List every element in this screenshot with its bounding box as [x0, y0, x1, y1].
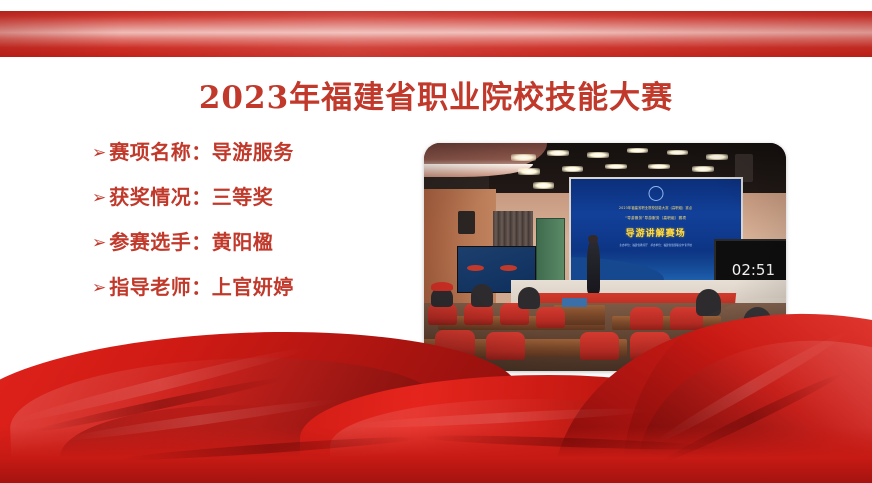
ceiling-light	[511, 154, 536, 161]
audience-red-cap	[431, 282, 453, 291]
wall-speaker-icon	[458, 211, 474, 234]
ceiling-light	[547, 150, 569, 156]
arrow-bullet-icon: ➢	[92, 190, 106, 207]
list-item-label: 赛项名称：导游服务	[109, 136, 294, 165]
audience-person	[471, 284, 493, 307]
auditorium-seat	[536, 307, 565, 328]
arrow-bullet-icon: ➢	[92, 145, 106, 162]
info-list: ➢ 赛项名称：导游服务 ➢ 获奖情况：三等奖 ➢ 参赛选手：黄阳楹 ➢ 指导老师…	[92, 136, 422, 316]
ceiling-light	[692, 166, 714, 172]
list-item-label: 指导老师：上官妍婷	[109, 271, 294, 300]
banner-sheen	[0, 11, 872, 57]
ceiling-light	[648, 164, 670, 170]
arrow-bullet-icon: ➢	[92, 280, 106, 297]
emblem-icon	[648, 186, 663, 201]
ceiling-light	[706, 154, 728, 159]
ceiling-light	[518, 168, 540, 175]
led-headline: 导游讲解赛场	[626, 226, 686, 239]
ceiling-light	[605, 164, 627, 170]
ceiling-light	[533, 182, 555, 189]
auditorium-seat	[486, 332, 526, 359]
ceiling-light	[667, 150, 689, 155]
audience-person	[518, 287, 540, 310]
slide-canvas: 2023年福建省职业院校技能大赛 ➢ 赛项名称：导游服务 ➢ 获奖情况：三等奖 …	[0, 0, 872, 483]
top-red-banner	[0, 11, 872, 57]
list-item-label: 获奖情况：三等奖	[109, 181, 273, 210]
list-item: ➢ 赛项名称：导游服务	[92, 136, 422, 181]
ceiling-light	[562, 166, 584, 172]
laptop-icon	[562, 298, 587, 307]
led-line-2: “导游服务”导游服务（高职组）赛项	[625, 216, 686, 221]
list-item: ➢ 指导老师：上官妍婷	[92, 271, 422, 316]
led-line-1: 2023年福建省职业院校技能大赛（高职组）赛点	[619, 205, 692, 210]
auditorium-seat	[580, 332, 620, 359]
ceiling-light	[627, 148, 649, 153]
ceiling-light	[587, 152, 609, 158]
list-item: ➢ 参赛选手：黄阳楹	[92, 226, 422, 271]
presenter-figure	[587, 239, 600, 294]
list-item-label: 参赛选手：黄阳楹	[109, 226, 273, 255]
arrow-bullet-icon: ➢	[92, 235, 106, 252]
auditorium-seat	[630, 307, 663, 330]
list-item: ➢ 获奖情况：三等奖	[92, 181, 422, 226]
page-title: 2023年福建省职业院校技能大赛	[0, 72, 872, 117]
led-subline: 主办单位：福建省教育厅 承办单位：福建省旅游职业中专学校	[619, 243, 692, 247]
timer-value: 02:51	[732, 261, 775, 279]
